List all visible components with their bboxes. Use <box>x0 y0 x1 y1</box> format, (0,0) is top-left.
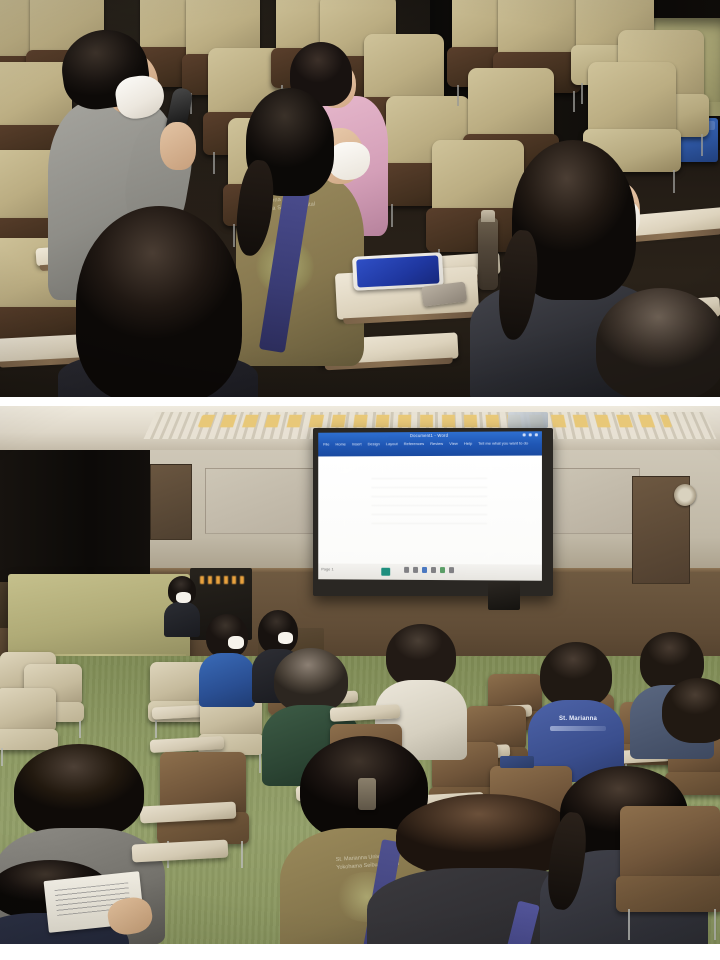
photo-collage-sheet: St. Marianna University Yokohama Seibu H… <box>0 0 720 960</box>
photo-bottom: Document1 - Word File Home Insert Design… <box>0 406 720 944</box>
bottom-margin <box>0 944 720 960</box>
bottom-photo-vignette <box>0 406 720 944</box>
photo-separator <box>0 397 720 406</box>
top-photo-vignette <box>0 0 720 397</box>
photo-top: St. Marianna University Yokohama Seibu H… <box>0 0 720 397</box>
